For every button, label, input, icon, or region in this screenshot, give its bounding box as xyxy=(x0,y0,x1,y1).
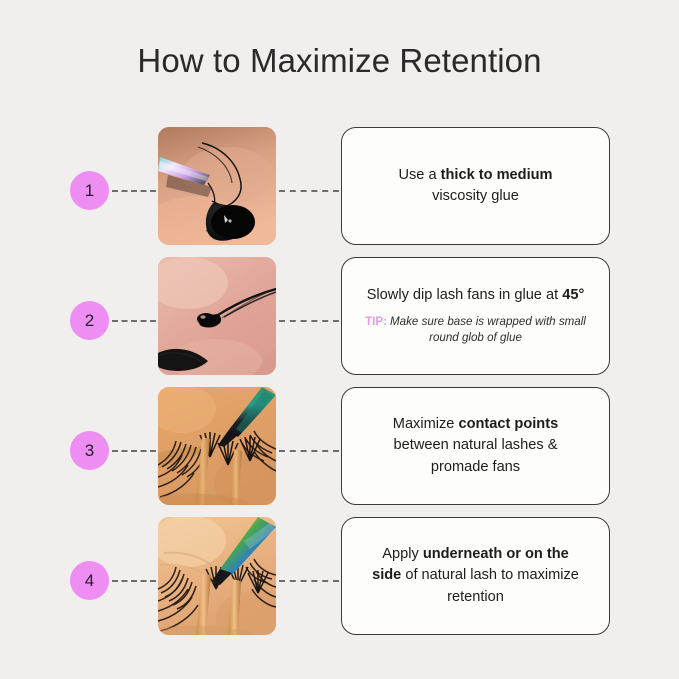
step-row-1: 1 xyxy=(0,127,679,245)
lash-applied-underneath-with-tweezers-icon xyxy=(158,517,276,635)
page-title: How to Maximize Retention xyxy=(0,42,679,80)
connector-badge-to-photo-2 xyxy=(112,320,156,322)
step-card-text-3: Maximize contact pointsbetween natural l… xyxy=(393,414,558,478)
emphasis-text: thick to medium xyxy=(441,167,553,183)
step-card-text-2: Slowly dip lash fans in glue at 45° xyxy=(367,285,585,306)
step-photo-2 xyxy=(158,257,276,375)
step-number-label: 2 xyxy=(85,311,94,331)
emphasis-text: contact points xyxy=(458,416,558,432)
step-photo-4 xyxy=(158,517,276,635)
step-row-4: 4 xyxy=(0,517,679,635)
connector-photo-to-card-1 xyxy=(279,190,339,192)
step-card-text-1: Use a thick to mediumviscosity glue xyxy=(398,165,552,208)
step-number-label: 3 xyxy=(85,441,94,461)
tip-label: TIP: xyxy=(365,315,387,328)
connector-badge-to-photo-4 xyxy=(112,580,156,582)
step-number-badge-1: 1 xyxy=(70,171,109,210)
tip-text: Make sure base is wrapped with small rou… xyxy=(390,315,586,344)
emphasis-text: underneath or on theside xyxy=(372,546,569,583)
step-number-badge-3: 3 xyxy=(70,431,109,470)
lash-fan-dipped-in-glue-globule-icon xyxy=(158,257,276,375)
step-tip-2: TIP:Make sure base is wrapped with small… xyxy=(358,314,593,347)
step-number-label: 1 xyxy=(85,181,94,201)
step-number-badge-4: 4 xyxy=(70,561,109,600)
step-number-label: 4 xyxy=(85,571,94,591)
step-card-text-4: Apply underneath or on theside of natura… xyxy=(372,544,579,608)
connector-badge-to-photo-3 xyxy=(112,450,156,452)
step-card-4: Apply underneath or on theside of natura… xyxy=(341,517,610,635)
step-row-3: 3 xyxy=(0,387,679,505)
emphasis-text: 45° xyxy=(562,287,584,303)
connector-photo-to-card-3 xyxy=(279,450,339,452)
step-row-2: 2 xyxy=(0,257,679,375)
connector-photo-to-card-4 xyxy=(279,580,339,582)
connector-photo-to-card-2 xyxy=(279,320,339,322)
tweezers-holding-lash-with-glue-drop-icon xyxy=(158,127,276,245)
step-number-badge-2: 2 xyxy=(70,301,109,340)
infographic-root: How to Maximize Retention 1 xyxy=(0,0,679,679)
step-photo-1 xyxy=(158,127,276,245)
lash-extension-contact-points-closeup-icon xyxy=(158,387,276,505)
connector-badge-to-photo-1 xyxy=(112,190,156,192)
step-card-1: Use a thick to mediumviscosity glue xyxy=(341,127,610,245)
step-card-2: Slowly dip lash fans in glue at 45° TIP:… xyxy=(341,257,610,375)
step-photo-3 xyxy=(158,387,276,505)
step-card-3: Maximize contact pointsbetween natural l… xyxy=(341,387,610,505)
